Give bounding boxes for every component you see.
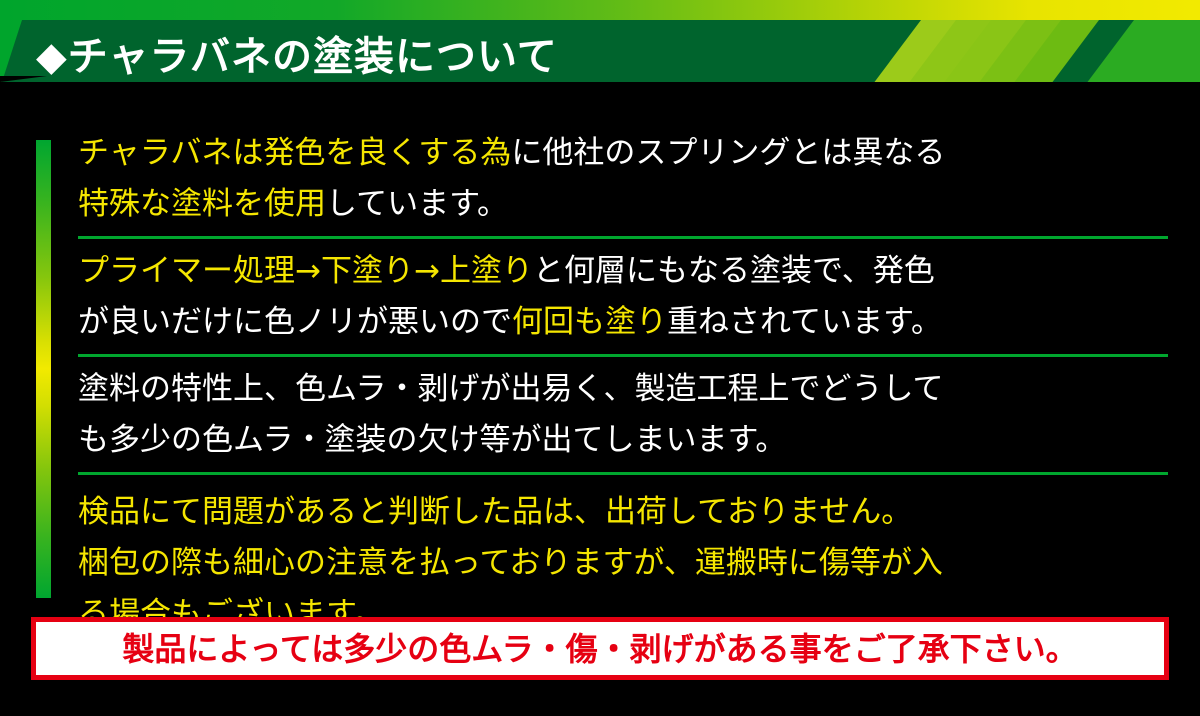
highlighted-text: 特殊な塗料を使用 xyxy=(78,186,326,222)
paragraph-list: チャラバネは発色を良くする為に他社のスプリングとは異なる特殊な塗料を使用していま… xyxy=(78,128,1170,640)
paragraph-colour-unevenness: 塗料の特性上、色ムラ・剥げが出易く、製造工程上でどうしても多少の色ムラ・塗装の欠… xyxy=(78,364,1170,466)
body-text: と何層にもなる塗装で、発色 xyxy=(533,253,935,289)
paragraph-line: が良いだけに色ノリが悪いので何回も塗り重ねされています。 xyxy=(78,297,1170,348)
highlighted-text: 何回も塗り xyxy=(512,304,667,340)
section-divider xyxy=(78,354,1168,357)
highlighted-text: プライマー処理→下塗り→上塗り xyxy=(78,253,533,289)
body-text: 塗料の特性上、色ムラ・剥げが出易く、製造工程上でどうして xyxy=(78,371,944,407)
paragraph-line: も多少の色ムラ・塗装の欠け等が出てしまいます。 xyxy=(78,415,1170,466)
paragraph-line: 検品にて問題があると判断した品は、出荷しておりません。 xyxy=(78,487,1170,538)
paragraph-line: チャラバネは発色を良くする為に他社のスプリングとは異なる xyxy=(78,128,1170,179)
body-text: も多少の色ムラ・塗装の欠け等が出てしまいます。 xyxy=(78,422,786,458)
highlighted-text: 検品にて問題があると判断した品は、出荷しておりません。 xyxy=(78,494,912,530)
paragraph-line: 梱包の際も細心の注意を払っておりますが、運搬時に傷等が入 xyxy=(78,538,1170,589)
paragraph-primer-colour: チャラバネは発色を良くする為に他社のスプリングとは異なる特殊な塗料を使用していま… xyxy=(78,128,1170,230)
section-divider xyxy=(78,236,1168,239)
content-area: チャラバネは発色を良くする為に他社のスプリングとは異なる特殊な塗料を使用していま… xyxy=(0,82,1200,602)
page-title: ◆チャラバネの塗装について xyxy=(36,20,558,82)
disclaimer-notice-text: 製品によっては多少の色ムラ・傷・剥げがある事をご了承下さい。 xyxy=(122,633,1077,665)
paragraph-coating-layers: プライマー処理→下塗り→上塗りと何層にもなる塗装で、発色が良いだけに色ノリが悪い… xyxy=(78,246,1170,348)
paint-notice-page: ◆チャラバネの塗装について チャラバネは発色を良くする為に他社のスプリングとは異… xyxy=(0,0,1200,716)
body-text: に他社のスプリングとは異なる xyxy=(511,135,945,171)
body-text: 重ねされています。 xyxy=(667,304,942,340)
paragraph-line: 塗料の特性上、色ムラ・剥げが出易く、製造工程上でどうして xyxy=(78,364,1170,415)
highlighted-text: チャラバネは発色を良くする為 xyxy=(78,135,511,171)
disclaimer-notice-box: 製品によっては多少の色ムラ・傷・剥げがある事をご了承下さい。 xyxy=(31,617,1169,680)
body-text: が良いだけに色ノリが悪いので xyxy=(78,304,512,340)
page-header: ◆チャラバネの塗装について xyxy=(0,0,1200,82)
left-accent-bar xyxy=(36,140,51,598)
body-text: しています。 xyxy=(326,186,508,222)
paragraph-line: プライマー処理→下塗り→上塗りと何層にもなる塗装で、発色 xyxy=(78,246,1170,297)
highlighted-text: 梱包の際も細心の注意を払っておりますが、運搬時に傷等が入 xyxy=(78,545,943,581)
paragraph-line: 特殊な塗料を使用しています。 xyxy=(78,179,1170,230)
section-divider xyxy=(78,472,1168,475)
